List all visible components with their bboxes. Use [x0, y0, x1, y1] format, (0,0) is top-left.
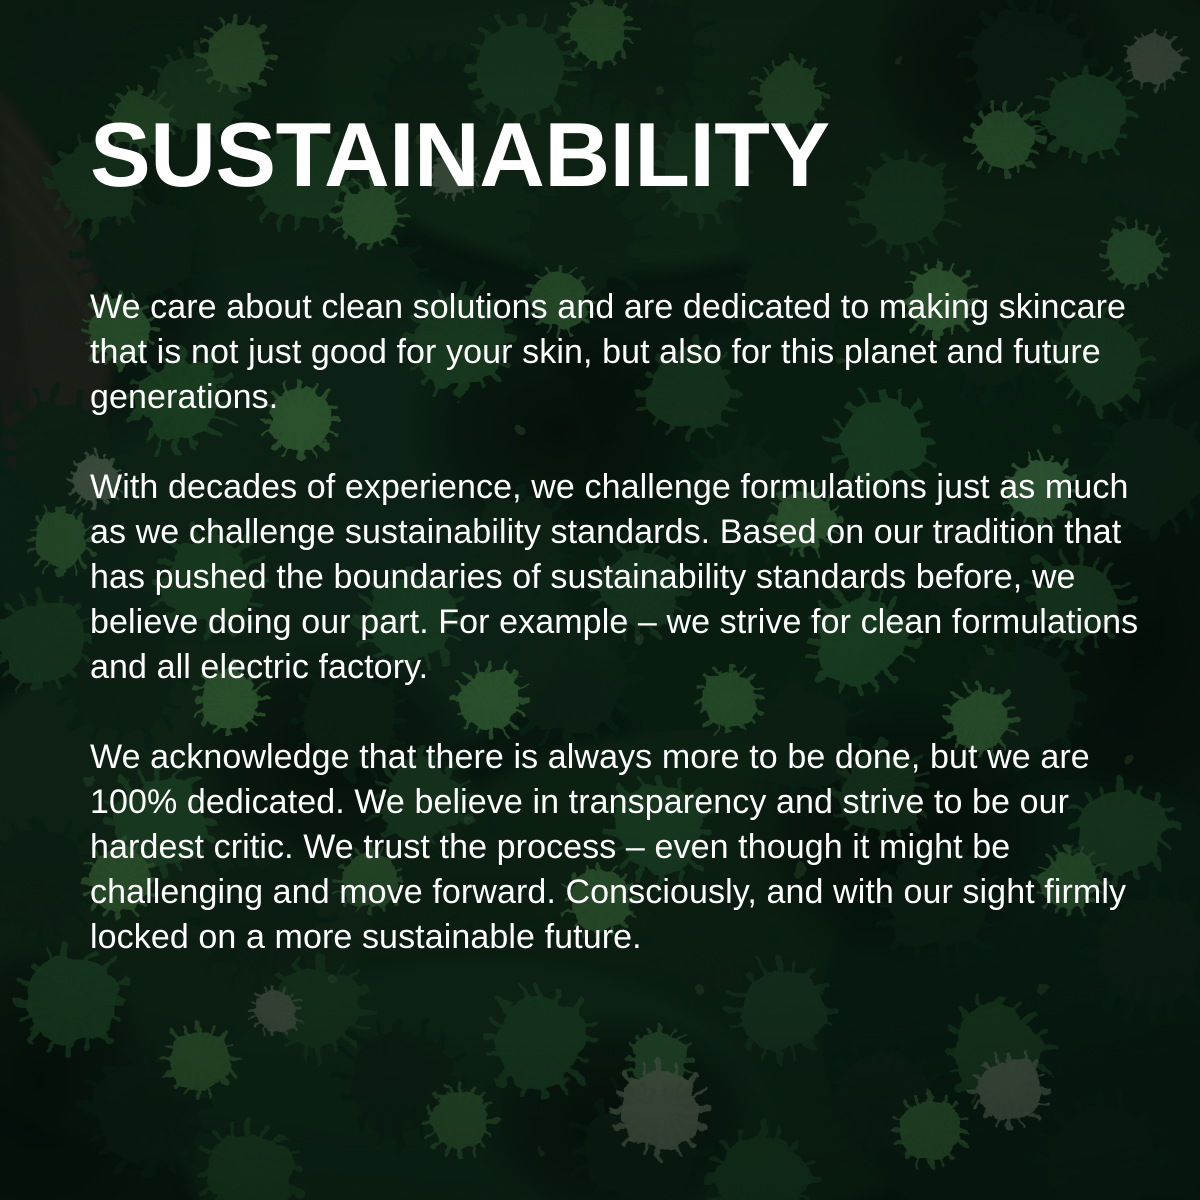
paragraph-1: We care about clean solutions and are de… — [90, 285, 1140, 420]
paragraph-2: With decades of experience, we challenge… — [90, 465, 1140, 690]
body-copy: We care about clean solutions and are de… — [90, 285, 1140, 960]
page-title: SUSTAINABILITY — [90, 110, 830, 201]
content-container: SUSTAINABILITY We care about clean solut… — [90, 0, 1135, 1200]
paragraph-3: We acknowledge that there is always more… — [90, 735, 1140, 960]
sustainability-page: SUSTAINABILITY We care about clean solut… — [0, 0, 1200, 1200]
